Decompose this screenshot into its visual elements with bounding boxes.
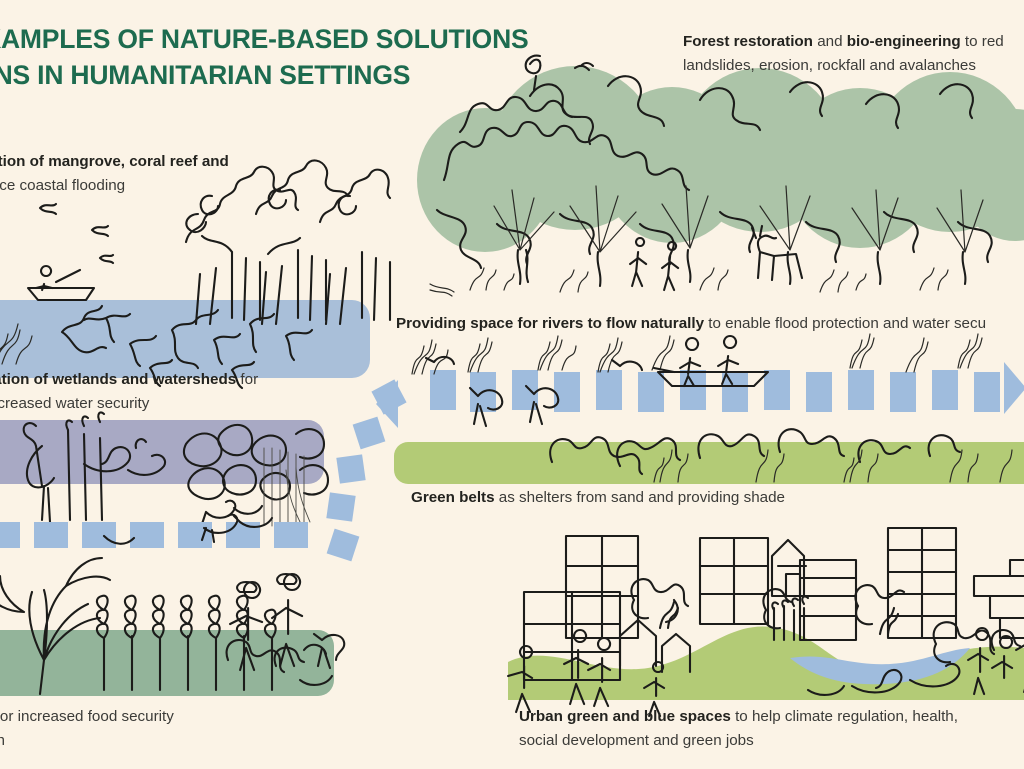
river-water-dashes <box>430 370 1000 412</box>
river-scene <box>376 334 1024 428</box>
caption-wetland-tail: for <box>236 371 258 388</box>
caption-rivers: Providing space for rivers to flow natur… <box>396 312 1024 336</box>
caption-urban-tail: to help climate regulation, health, <box>731 708 958 725</box>
farmer-figures <box>230 574 302 670</box>
heron-figure <box>24 423 54 522</box>
caption-green-tail: as shelters from sand and providing shad… <box>495 489 785 506</box>
wading-birds <box>426 357 642 426</box>
caption-forest-tail: to red <box>961 33 1004 50</box>
green-belt-scene <box>394 429 1024 484</box>
agriculture-scene <box>0 558 344 696</box>
caption-forest-mid: and <box>813 33 847 50</box>
caption-wetlands: estoration of wetlands and watersheds fo… <box>0 368 356 415</box>
infographic-canvas: .ink { fill:none; stroke:#1c1c1a; stroke… <box>0 0 1024 769</box>
caption-rivers-tail: to enable flood protection and water sec… <box>704 315 986 332</box>
caption-forest-bold-1: Forest restoration <box>683 33 813 50</box>
caption-wetland-line-2: and increased water security <box>0 392 356 416</box>
deer-figure <box>752 226 802 280</box>
caption-urban-bold-1: Urban green and blue spaces <box>519 708 731 725</box>
flow-arrow-right <box>1004 362 1024 414</box>
wetlands-scene <box>0 412 328 526</box>
caption-forest-restoration: Forest restoration and bio-engineering t… <box>683 30 1024 77</box>
caption-rivers-bold-1: Providing space for rivers to flow natur… <box>396 315 704 332</box>
pond-people <box>968 610 1024 694</box>
page-title-line-2: IONS IN HUMANITARIAN SETTINGS <box>0 58 606 94</box>
seabirds <box>40 204 113 263</box>
waterfowl <box>84 439 165 475</box>
river-boat <box>654 336 768 386</box>
caption-forest-line-2: landslides, erosion, rockfall and avalan… <box>683 54 1024 78</box>
caption-agri-line-2: l health <box>0 729 296 753</box>
caption-urban-spaces: Urban green and blue spaces to help clim… <box>519 705 1019 752</box>
caption-agriculture: tems for increased food security l healt… <box>0 705 296 752</box>
caption-mangrove-line-2: to reduce coastal flooding <box>0 174 352 198</box>
flow-arrow-left <box>376 380 398 428</box>
swans <box>808 664 959 695</box>
forest-people <box>630 238 678 290</box>
caption-urban-line-2: social development and green jobs <box>519 729 1019 753</box>
ducks-lower <box>202 501 262 524</box>
caption-forest-bold-2: bio-engineering <box>847 33 961 50</box>
crop-rows <box>97 596 276 690</box>
dashed-row-left <box>0 522 308 548</box>
fishing-boat <box>28 266 94 300</box>
caption-agri-tail: for increased food security <box>0 708 174 725</box>
page-title-line-1: EXAMPLES OF NATURE-BASED SOLUTIONS <box>0 24 528 54</box>
page-title: EXAMPLES OF NATURE-BASED SOLUTIONS IONS … <box>0 22 606 94</box>
caption-wetland-bold-1: estoration of wetlands and watersheds <box>0 371 236 388</box>
caption-mangrove-bold-1: estoration of mangrove, coral reef and <box>0 153 229 170</box>
urban-people <box>508 630 1024 716</box>
urban-scene <box>508 528 1024 716</box>
caption-green-bold-1: Green belts <box>411 489 495 506</box>
caption-mangrove-restoration: estoration of mangrove, coral reef and t… <box>0 150 352 197</box>
caption-green-belts: Green belts as shelters from sand and pr… <box>411 486 881 510</box>
